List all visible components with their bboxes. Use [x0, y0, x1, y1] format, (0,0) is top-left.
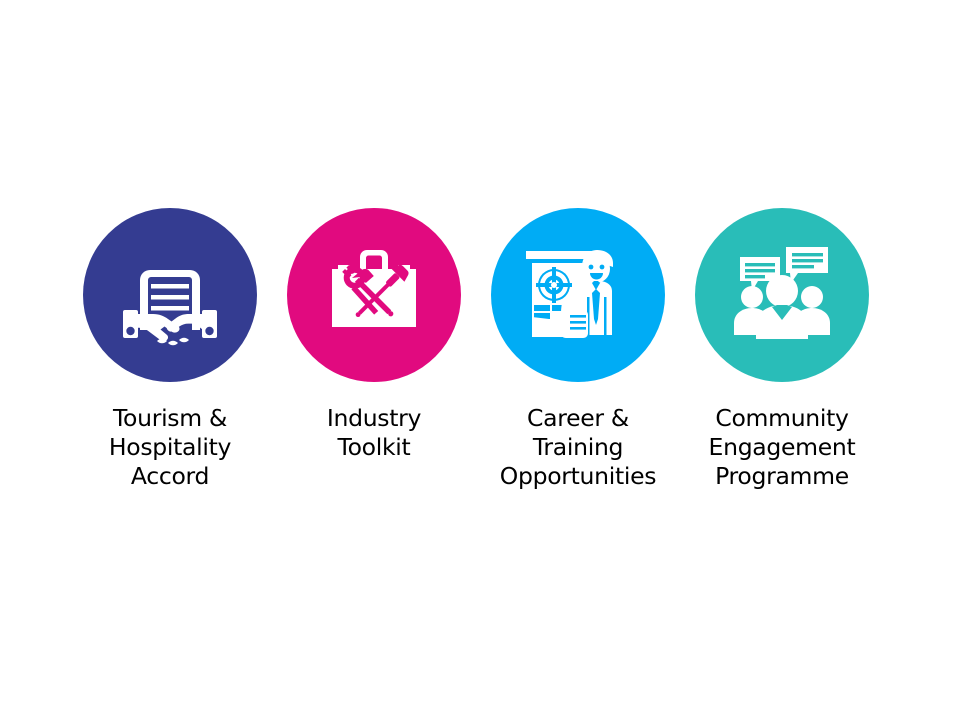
card-label-industry-toolkit: Industry Toolkit: [269, 404, 479, 462]
icon-circle-community-engagement-programme[interactable]: [695, 208, 869, 382]
handshake-document-icon: [115, 240, 225, 350]
card-tourism-hospitality-accord[interactable]: Tourism & Hospitality Accord: [68, 208, 272, 491]
card-label-community-engagement-programme: Community Engagement Programme: [677, 404, 887, 491]
people-speech-bubbles-icon: [726, 239, 838, 351]
card-label-tourism-hospitality-accord: Tourism & Hospitality Accord: [65, 404, 275, 491]
icon-card-row: Tourism & Hospitality Accord: [0, 208, 960, 491]
card-label-career-training-opportunities: Career & Training Opportunities: [463, 404, 693, 491]
card-industry-toolkit[interactable]: Industry Toolkit: [272, 208, 476, 462]
card-career-training-opportunities[interactable]: Career & Training Opportunities: [476, 208, 680, 491]
icon-circle-tourism-hospitality-accord[interactable]: [83, 208, 257, 382]
icon-circle-industry-toolkit[interactable]: [287, 208, 461, 382]
card-community-engagement-programme[interactable]: Community Engagement Programme: [680, 208, 884, 491]
slide-canvas: Tourism & Hospitality Accord: [0, 0, 960, 720]
presenter-flipchart-icon: [522, 239, 634, 351]
icon-circle-career-training-opportunities[interactable]: [491, 208, 665, 382]
toolbox-hammer-wrench-icon: [322, 243, 426, 347]
